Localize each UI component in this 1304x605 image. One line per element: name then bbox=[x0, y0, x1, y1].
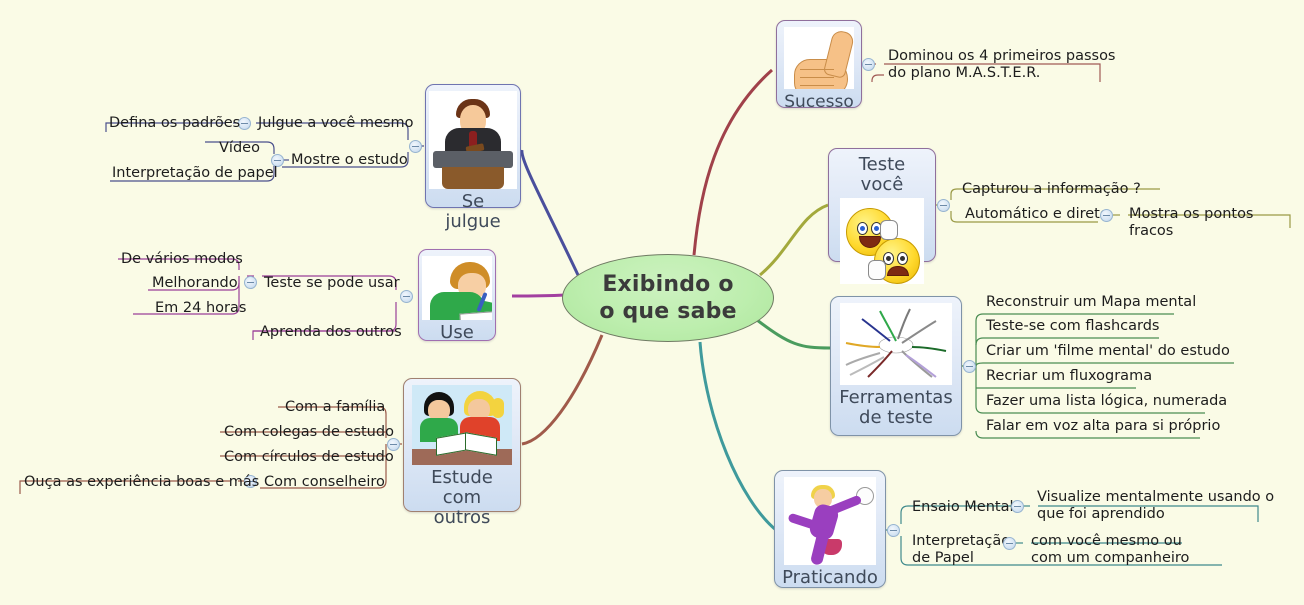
mind-map-icon bbox=[840, 303, 952, 385]
estude-child-1[interactable]: Com colegas de estudo bbox=[222, 424, 396, 442]
node-ferramentas-label: Ferramentas de teste bbox=[839, 388, 952, 428]
se-julgue-child-1[interactable]: Mostre o estudo bbox=[289, 152, 410, 170]
branch-line-ferramentas bbox=[757, 320, 830, 348]
branch-line-se-julgue bbox=[522, 150, 578, 275]
ferramentas-child-3[interactable]: Recriar um fluxograma bbox=[984, 368, 1154, 386]
ferramentas-child-5[interactable]: Falar em voz alta para si próprio bbox=[984, 418, 1222, 436]
toggle-ferramentas[interactable] bbox=[963, 360, 976, 373]
sucesso-child-0[interactable]: Dominou os 4 primeiros passos do plano M… bbox=[886, 48, 1118, 83]
se-julgue-child-0[interactable]: Julgue a você mesmo bbox=[256, 115, 415, 133]
toggle-se-julgue[interactable] bbox=[409, 140, 422, 153]
branch-line-use bbox=[512, 295, 565, 296]
node-praticando-label: Praticando bbox=[782, 568, 878, 588]
node-teste-voce-label: Teste você bbox=[836, 155, 928, 195]
use-child-0-0[interactable]: De vários modos bbox=[119, 251, 245, 269]
praticando-child-0-0[interactable]: Visualize mentalmente usando o que foi a… bbox=[1035, 489, 1276, 524]
thumbs-up-icon bbox=[784, 27, 854, 89]
teste-voce-child-1-0[interactable]: Mostra os pontos fracos bbox=[1127, 206, 1304, 241]
branch-line-sucesso bbox=[694, 70, 772, 255]
node-use[interactable]: Use bbox=[418, 249, 496, 341]
se-julgue-child-1-1[interactable]: Interpretação de papel bbox=[110, 165, 280, 183]
node-se-julgue-label: Se julgue bbox=[433, 192, 513, 232]
ferramentas-child-2[interactable]: Criar um 'filme mental' do estudo bbox=[984, 343, 1232, 361]
node-ferramentas-de-teste[interactable]: Ferramentas de teste bbox=[830, 296, 962, 436]
teste-voce-child-1[interactable]: Automático e direto bbox=[963, 206, 1111, 224]
node-se-julgue[interactable]: Se julgue bbox=[425, 84, 521, 208]
toggle-interpretacao-papel[interactable] bbox=[1003, 537, 1016, 550]
smiley-faces-icon bbox=[840, 198, 924, 284]
toggle-praticando[interactable] bbox=[887, 524, 900, 537]
node-sucesso[interactable]: Sucesso bbox=[776, 20, 862, 108]
se-julgue-child-1-0[interactable]: Vídeo bbox=[217, 140, 262, 158]
ferramentas-child-0[interactable]: Reconstruir um Mapa mental bbox=[984, 294, 1198, 312]
central-node[interactable]: Exibindo o o que sabe bbox=[562, 254, 774, 342]
se-julgue-child-0-0[interactable]: Defina os padrões bbox=[107, 115, 242, 133]
mindmap-canvas: Exibindo o o que sabe Sucesso Dominou os… bbox=[0, 0, 1304, 605]
toggle-teste-voce[interactable] bbox=[937, 199, 950, 212]
toggle-ensaio-mental[interactable] bbox=[1011, 500, 1024, 513]
node-praticando[interactable]: Praticando bbox=[774, 470, 886, 588]
branch-line-teste-voce bbox=[760, 205, 828, 275]
toggle-automatico-direto[interactable] bbox=[1100, 209, 1113, 222]
use-child-0[interactable]: Teste se pode usar bbox=[262, 275, 402, 293]
ferramentas-child-1[interactable]: Teste-se com flashcards bbox=[984, 318, 1161, 336]
skater-icon bbox=[784, 477, 876, 565]
central-line-1: Exibindo o bbox=[602, 271, 733, 298]
branch-line-praticando bbox=[700, 342, 776, 530]
central-line-2: o que sabe bbox=[599, 298, 736, 325]
node-estude-label: Estude com outros bbox=[411, 468, 513, 528]
praticando-child-0[interactable]: Ensaio Mental bbox=[910, 499, 1016, 517]
toggle-teste-se-pode-usar[interactable] bbox=[244, 276, 257, 289]
mind-map-thumb-svg bbox=[840, 303, 952, 385]
toggle-use[interactable] bbox=[400, 290, 413, 303]
node-teste-voce[interactable]: Teste você bbox=[828, 148, 936, 262]
two-students-icon bbox=[412, 385, 512, 465]
estude-child-2[interactable]: Com círculos de estudo bbox=[222, 449, 396, 467]
use-child-0-1[interactable]: Melhorando bbox=[150, 275, 240, 293]
praticando-child-1-0[interactable]: com você mesmo ou com um companheiro bbox=[1029, 533, 1191, 568]
node-estude-com-outros[interactable]: Estude com outros bbox=[403, 378, 521, 512]
praticando-child-1[interactable]: Interpretação de Papel bbox=[910, 533, 1012, 568]
node-sucesso-label: Sucesso bbox=[784, 92, 854, 112]
estude-child-3[interactable]: Com conselheiro bbox=[262, 474, 387, 492]
ferramentas-child-4[interactable]: Fazer uma lista lógica, numerada bbox=[984, 393, 1229, 411]
student-writing-icon bbox=[422, 256, 492, 320]
teste-voce-child-0[interactable]: Capturou a informação ? bbox=[960, 181, 1143, 199]
use-child-1[interactable]: Aprenda dos outros bbox=[258, 324, 404, 342]
branch-line-estude bbox=[522, 335, 602, 444]
estude-child-3-0[interactable]: Ouça as experiência boas e más bbox=[22, 474, 261, 492]
estude-child-0[interactable]: Com a família bbox=[283, 399, 387, 417]
node-use-label: Use bbox=[440, 323, 474, 343]
use-child-0-2[interactable]: Em 24 horas bbox=[153, 300, 248, 318]
toggle-sucesso[interactable] bbox=[862, 58, 875, 71]
judge-icon bbox=[429, 91, 517, 189]
